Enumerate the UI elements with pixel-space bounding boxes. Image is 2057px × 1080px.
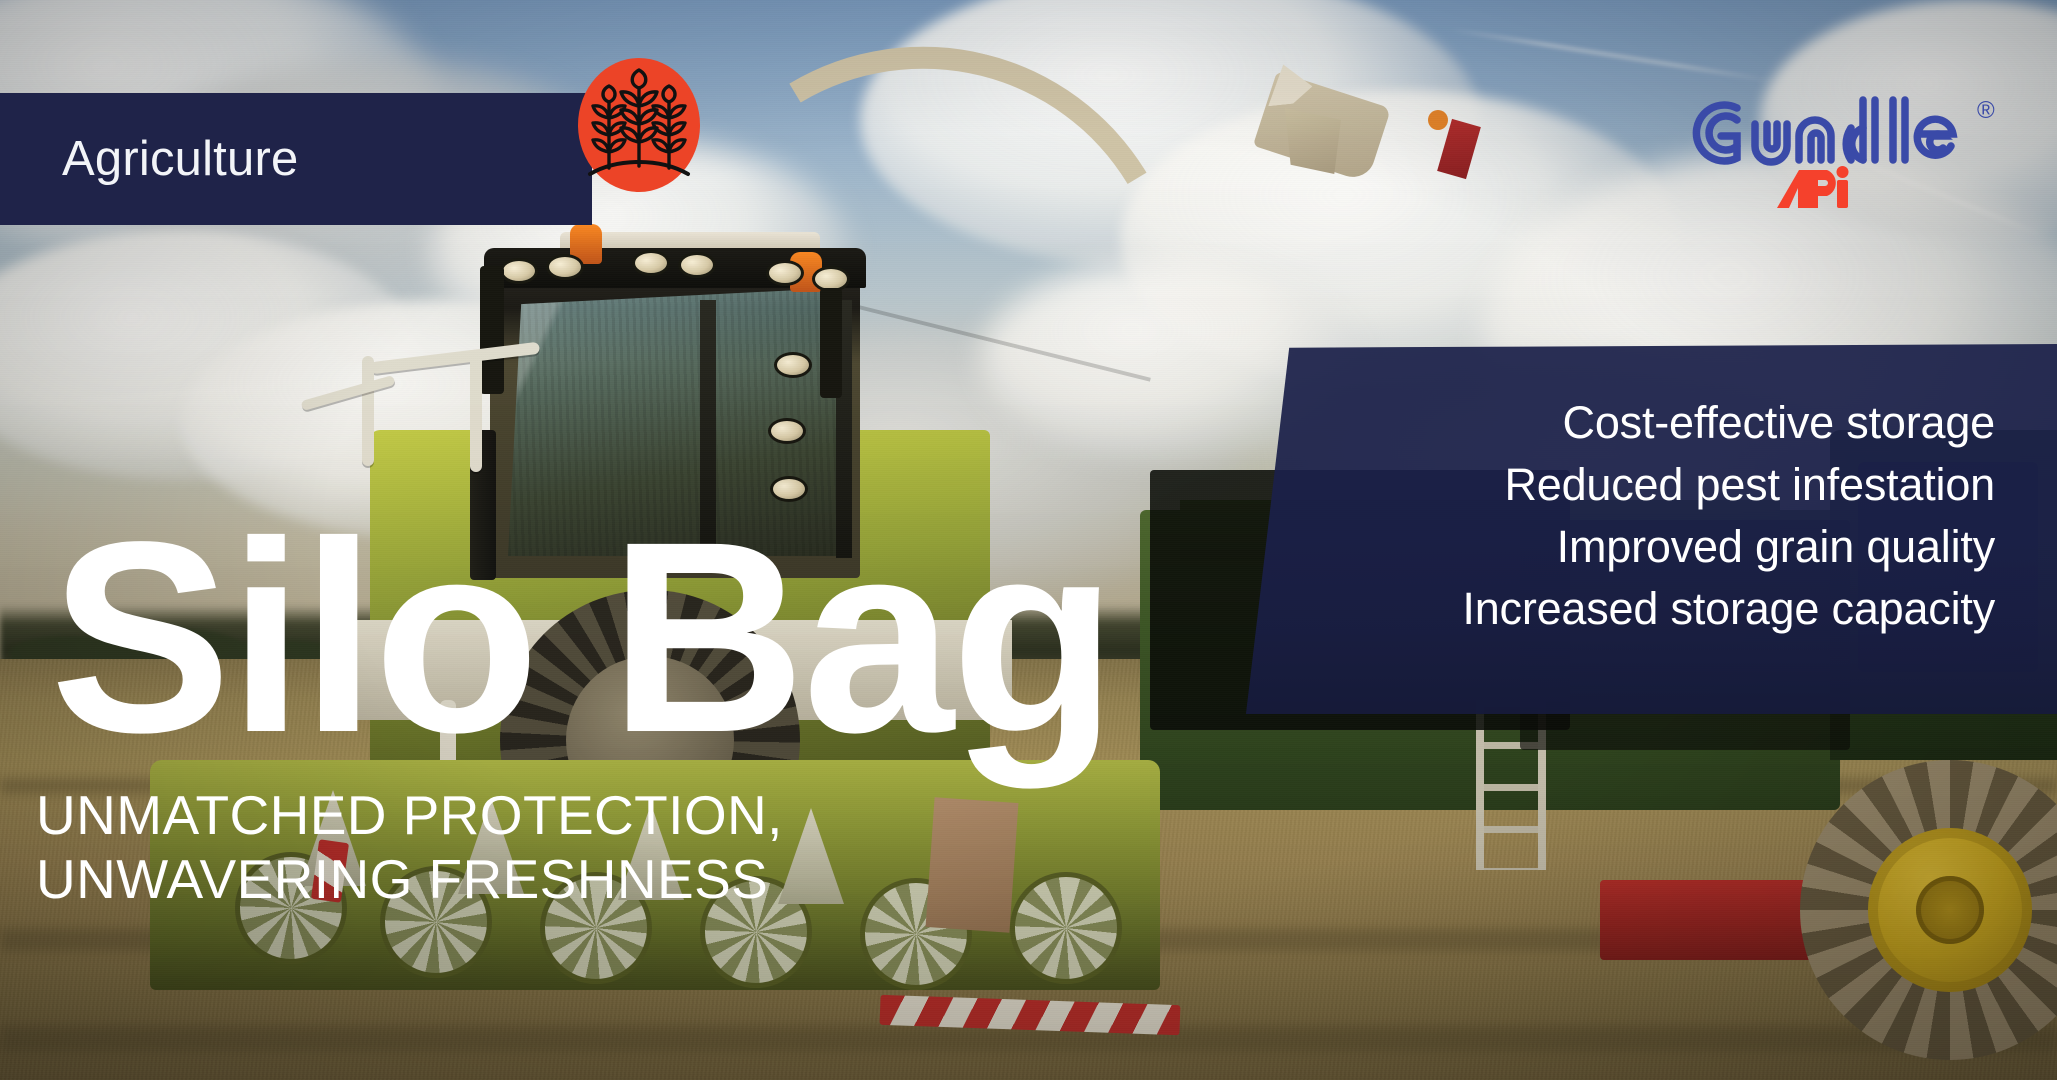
benefit-item: Reduced pest infestation <box>1275 454 1995 516</box>
benefit-item: Cost-effective storage <box>1275 392 1995 454</box>
benefit-item: Improved grain quality <box>1275 516 1995 578</box>
category-label: Agriculture <box>62 93 298 225</box>
page-title: Silo Bag <box>50 514 1114 760</box>
benefit-item: Increased storage capacity <box>1275 578 1995 640</box>
subheadline-line-2: UNWAVERING FRESHNESS <box>36 847 1136 911</box>
benefits-list: Cost-effective storage Reduced pest infe… <box>1275 392 1995 640</box>
subheadline-line-1: UNMATCHED PROTECTION, <box>36 783 1136 847</box>
headline-line: Silo Bag <box>50 514 1114 760</box>
registered-mark: ® <box>1977 97 1995 124</box>
wheat-stalks-icon <box>578 58 700 192</box>
brand-logo: ® <box>1681 84 2011 214</box>
subheadline: UNMATCHED PROTECTION, UNWAVERING FRESHNE… <box>36 783 1136 911</box>
marketing-banner: Agriculture <box>0 0 2057 1080</box>
